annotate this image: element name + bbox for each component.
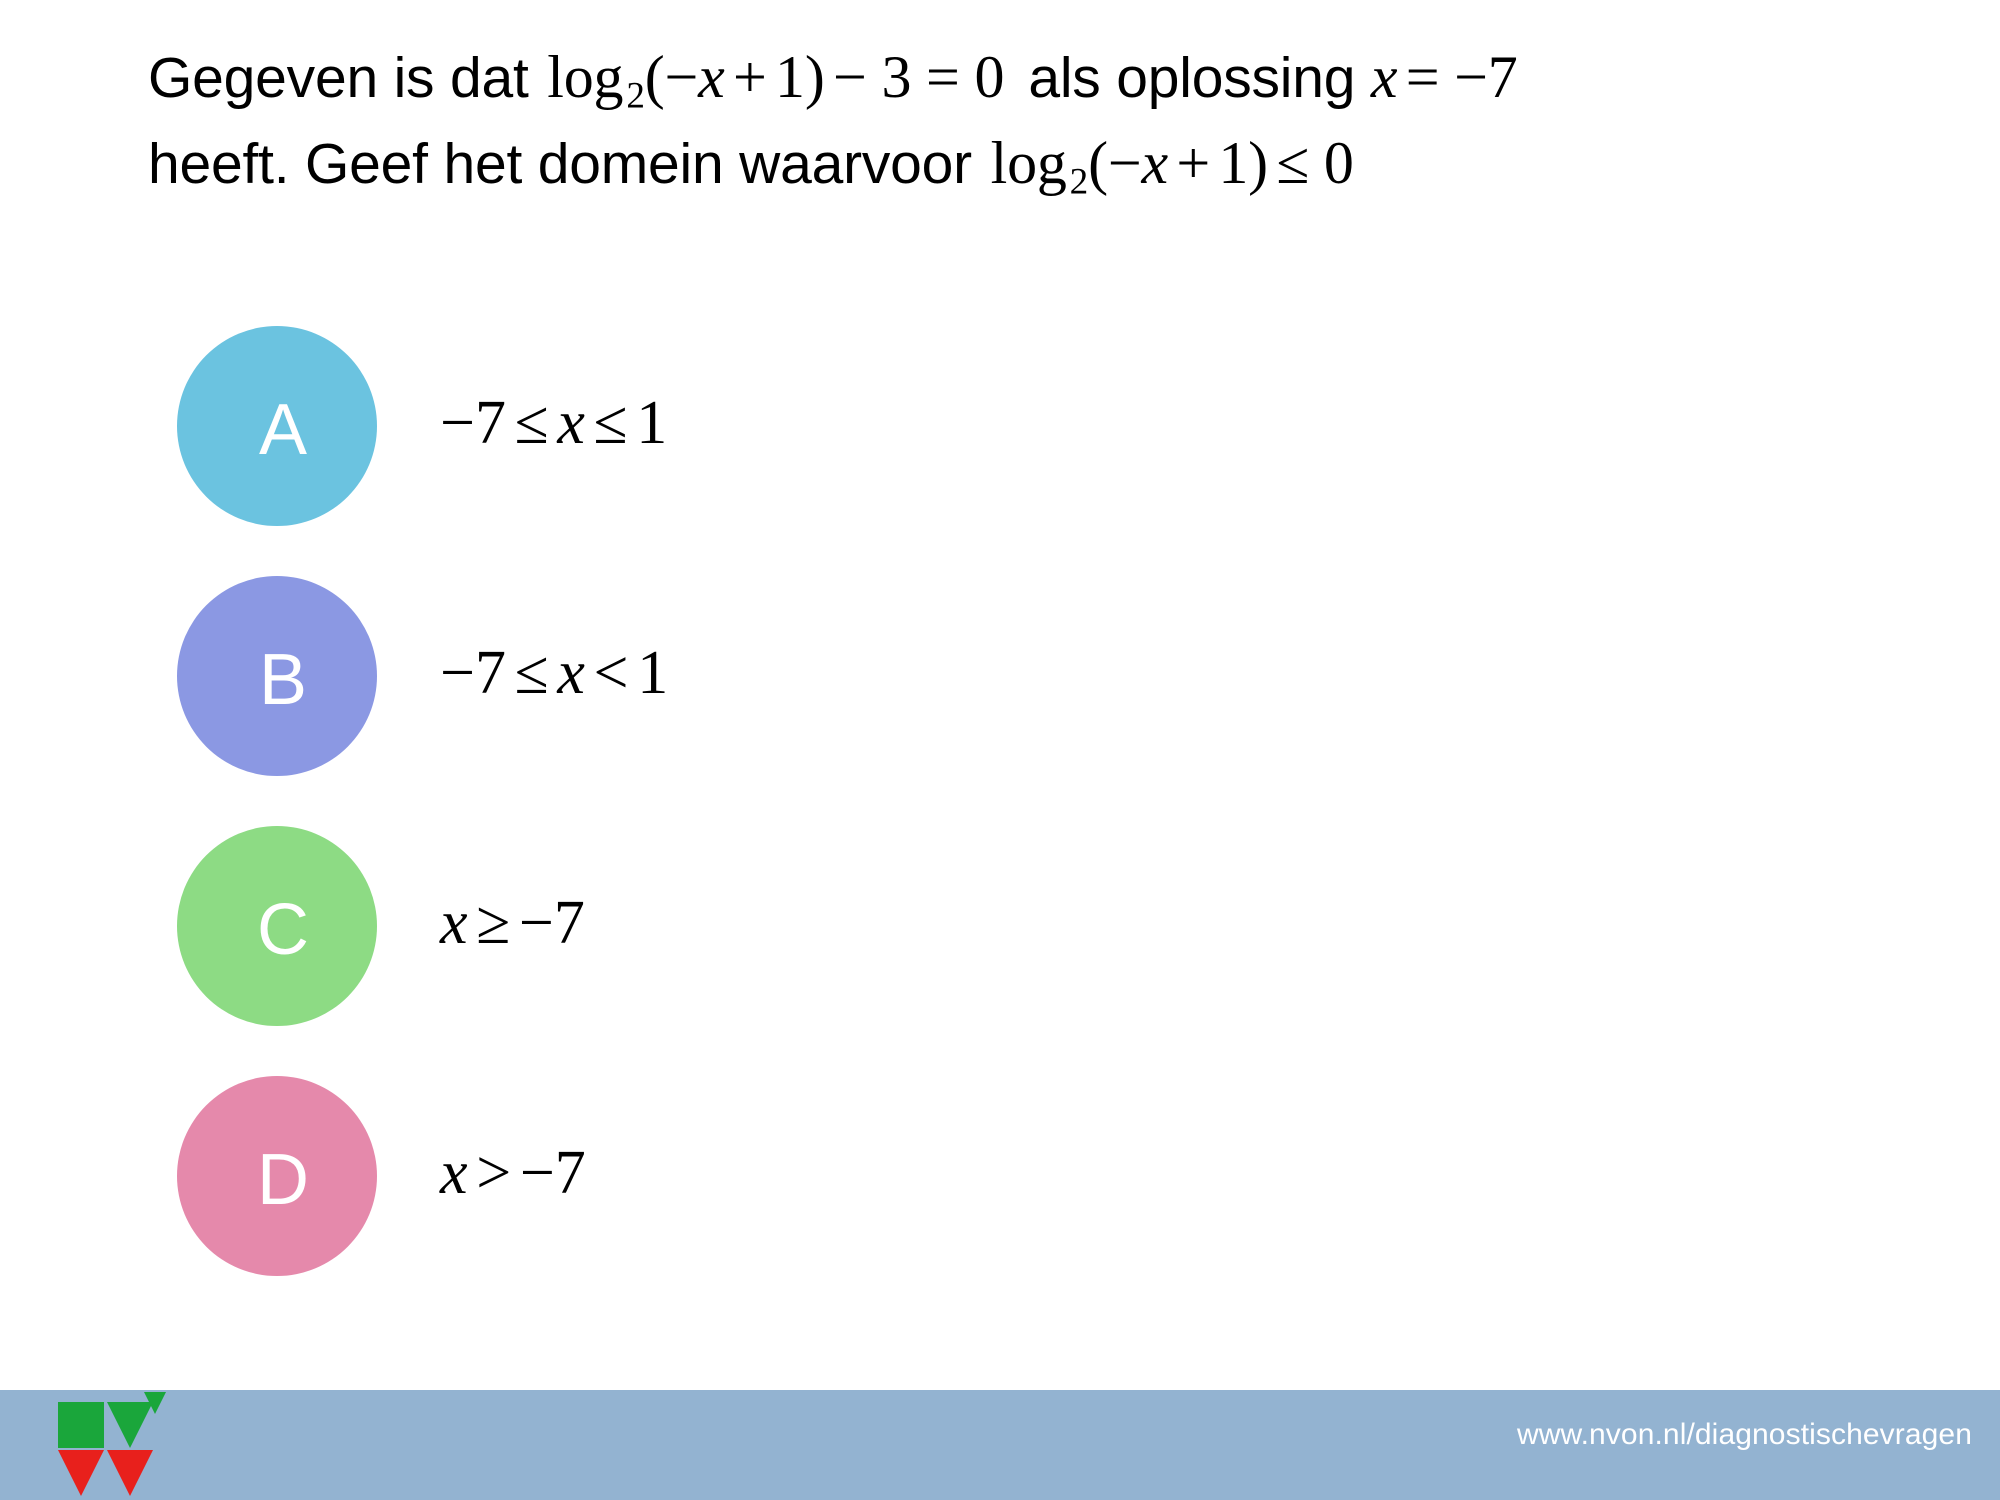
- option-row-b[interactable]: B −7≤x<1: [0, 568, 2000, 818]
- option-c-right: −7: [519, 889, 585, 957]
- option-letter-c: C: [257, 894, 309, 966]
- option-text-c: x≥−7: [440, 888, 585, 959]
- log-base: 2: [626, 75, 644, 116]
- solution-variable: x: [1371, 44, 1397, 110]
- option-letter-d: D: [257, 1144, 309, 1216]
- nvon-logo-icon: [56, 1392, 166, 1497]
- option-c-rel2: ≥: [468, 889, 519, 957]
- question-line2-expression: log2(−x+1)≤ 0: [988, 130, 1362, 196]
- logo-green-triangle-large: [107, 1402, 153, 1448]
- option-a-left: −7: [440, 389, 506, 457]
- option-text-a: −7≤x≤1: [440, 388, 667, 459]
- footer-url-label[interactable]: www.nvon.nl/diagnostischevragen: [1517, 1418, 1972, 1452]
- logo-red-triangle-right: [107, 1450, 153, 1496]
- log-label-2: log: [988, 130, 1070, 196]
- expr-one-close-2: 1): [1218, 130, 1268, 196]
- option-d-var: x: [440, 1139, 468, 1207]
- option-a-right: 1: [636, 389, 667, 457]
- slide: Gegeven is dat log2(−x+1)− 3 = 0 als opl…: [0, 0, 2000, 1500]
- option-row-a[interactable]: A −7≤x≤1: [0, 318, 2000, 568]
- expr-plus-2: +: [1168, 130, 1218, 196]
- question-line-1: Gegeven is dat log2(−x+1)− 3 = 0 als opl…: [148, 36, 1948, 122]
- expr-open-paren: (−: [645, 44, 698, 110]
- question-line1-expression: log2(−x+1)− 3 = 0: [544, 44, 1012, 110]
- option-a-rel2: ≤: [585, 389, 636, 457]
- option-d-rel2: >: [468, 1139, 520, 1207]
- option-c-var: x: [440, 889, 468, 957]
- question-line2-prefix: heeft. Geef het domein waarvoor: [148, 132, 972, 196]
- option-a-var: x: [557, 389, 585, 457]
- option-letter-b: B: [259, 644, 307, 716]
- option-letter-a: A: [259, 394, 307, 466]
- question-line1-middle: als oplossing: [1028, 46, 1355, 110]
- option-bubble-a[interactable]: A: [177, 326, 377, 526]
- expr-minus-three: − 3 = 0: [825, 44, 1013, 110]
- option-text-d: x>−7: [440, 1138, 586, 1209]
- option-d-right: −7: [520, 1139, 586, 1207]
- solution-value: = −7: [1397, 44, 1526, 110]
- option-row-d[interactable]: D x>−7: [0, 1068, 2000, 1318]
- option-bubble-d[interactable]: D: [177, 1076, 377, 1276]
- option-b-rel2: <: [585, 639, 637, 707]
- option-b-var: x: [557, 639, 585, 707]
- option-b-left: −7: [440, 639, 506, 707]
- option-b-rel1: ≤: [506, 639, 557, 707]
- option-row-c[interactable]: C x≥−7: [0, 818, 2000, 1068]
- log-base-2: 2: [1070, 161, 1088, 202]
- logo-red-triangle-left: [58, 1450, 104, 1496]
- log-label: log: [544, 44, 626, 110]
- option-a-rel1: ≤: [506, 389, 557, 457]
- option-bubble-b[interactable]: B: [177, 576, 377, 776]
- logo-green-square: [58, 1402, 104, 1448]
- expr-plus: +: [725, 44, 775, 110]
- expr-variable-2: x: [1142, 130, 1168, 196]
- answer-options: A −7≤x≤1 B −7≤x<1 C x≥−7 D: [0, 318, 2000, 1318]
- question-text: Gegeven is dat log2(−x+1)− 3 = 0 als opl…: [148, 36, 1948, 207]
- expr-variable: x: [698, 44, 724, 110]
- option-bubble-c[interactable]: C: [177, 826, 377, 1026]
- option-text-b: −7≤x<1: [440, 638, 668, 709]
- expr-open-paren-2: (−: [1088, 130, 1141, 196]
- question-line-2: heeft. Geef het domein waarvoor log2(−x+…: [148, 122, 1948, 208]
- question-line1-solution: x= −7: [1371, 44, 1526, 110]
- question-line1-prefix: Gegeven is dat: [148, 46, 529, 110]
- expr-one-close: 1): [775, 44, 825, 110]
- option-b-right: 1: [637, 639, 668, 707]
- expr-relation: ≤ 0: [1268, 130, 1362, 196]
